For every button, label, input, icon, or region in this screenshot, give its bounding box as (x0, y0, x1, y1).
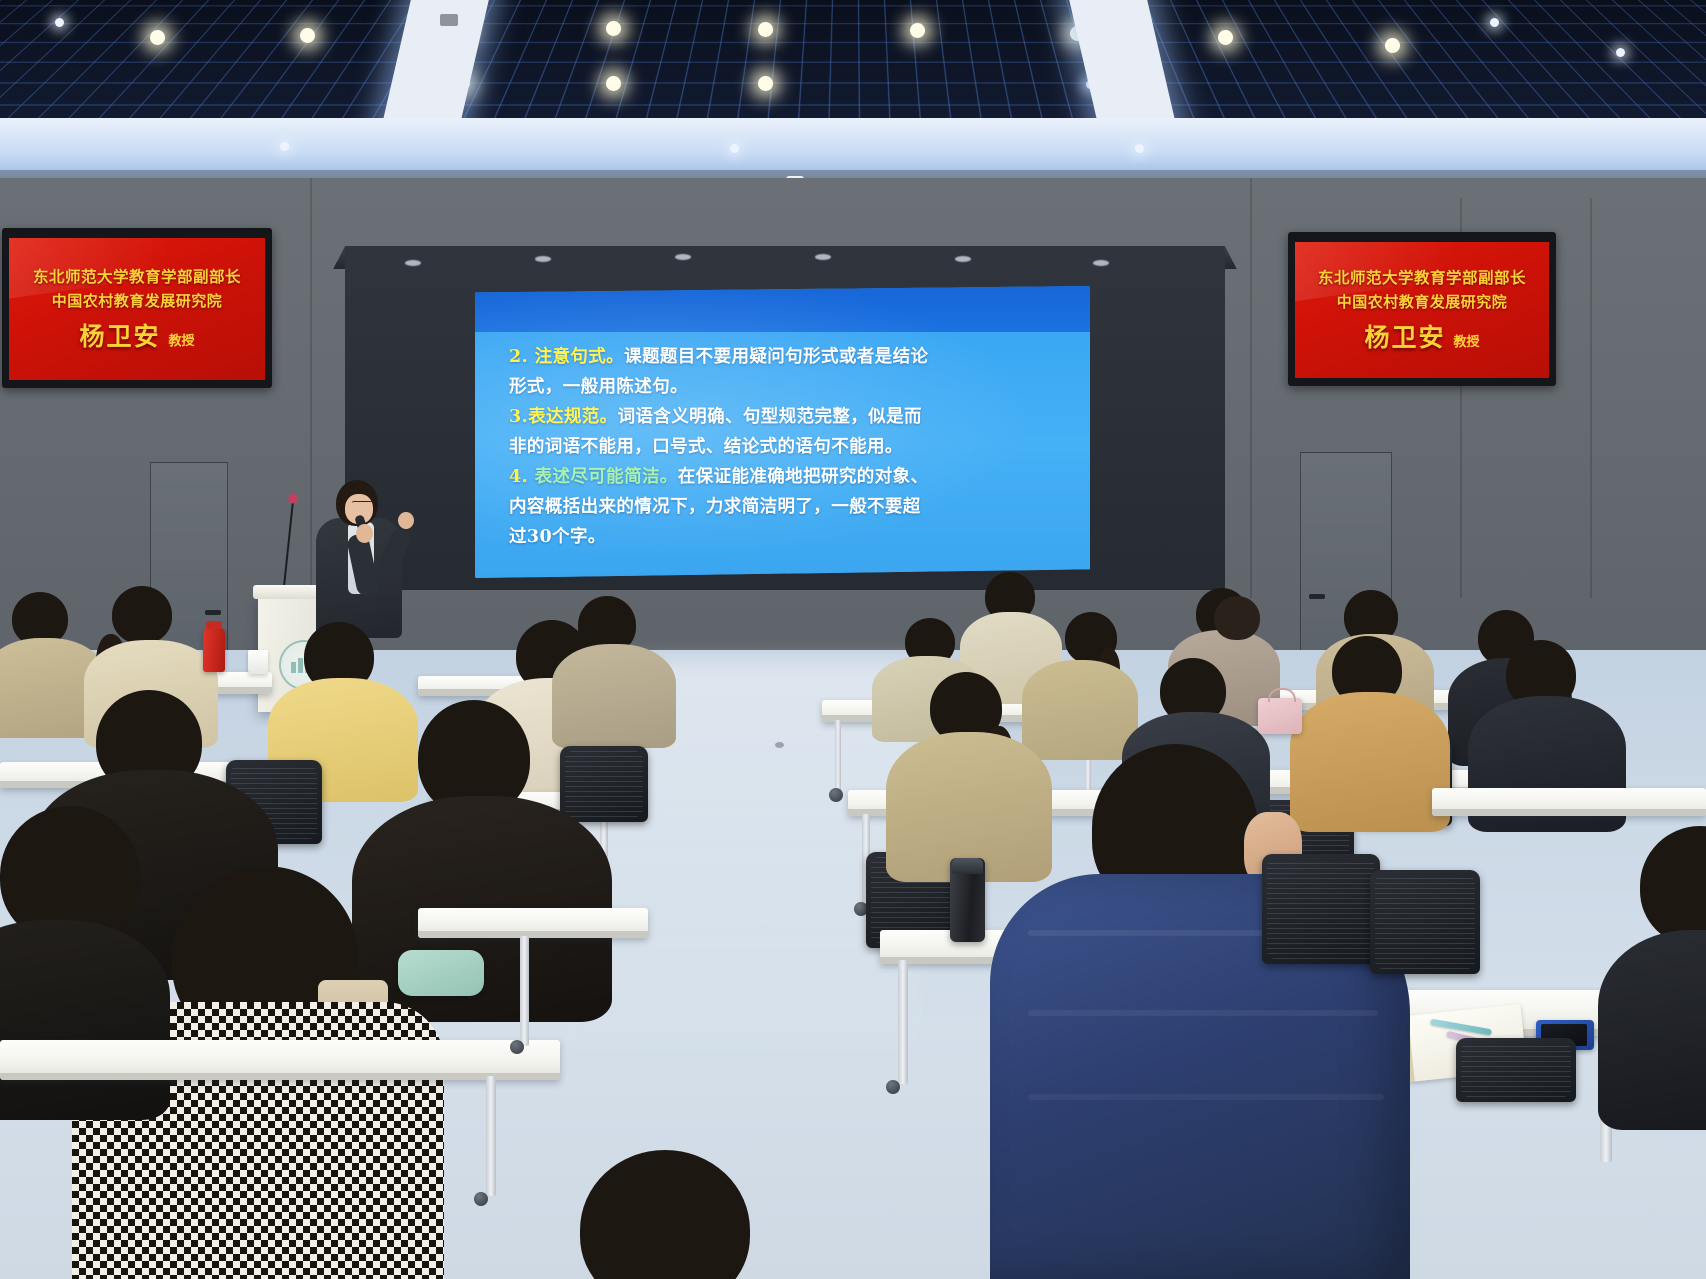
jacket-seam (1028, 1094, 1384, 1100)
desk-edge (0, 1073, 560, 1080)
chair[interactable] (1456, 1038, 1576, 1102)
banner-speaker-row: 杨卫安 教授 (79, 317, 194, 353)
ceiling-vent (440, 14, 458, 26)
thermos-cap (952, 858, 983, 874)
slide-line-rest: 在保证能准确地把研究的对象、 (678, 467, 929, 487)
chair[interactable] (1262, 854, 1380, 964)
attendee-head (112, 586, 172, 644)
desk-edge (418, 931, 648, 938)
slide-line: 非的词语不能用，口号式、结论式的语句不能用。 (509, 432, 1069, 462)
desk-leg (835, 720, 841, 792)
pink-handbag (1258, 698, 1302, 734)
banner-speaker-title: 教授 (169, 330, 195, 349)
desk-leg (486, 1076, 496, 1196)
attendee-head (1214, 596, 1260, 640)
niche-downlight (535, 256, 551, 262)
desk-leg (898, 960, 908, 1084)
desk-front-left (0, 1040, 560, 1080)
ceiling-spotlight (606, 76, 621, 91)
jacket-seam (1028, 1010, 1378, 1016)
glasses-icon (352, 501, 374, 507)
black-thermos-flask (950, 858, 985, 942)
presentation-screen[interactable]: 2. 注意句式。课题题目不要用疑问句形式或者是结论 形式，一般用陈述句。 3.表… (475, 286, 1090, 578)
desk-caster (886, 1080, 900, 1094)
desk-leg (520, 936, 529, 1046)
desk-caster (474, 1192, 488, 1206)
slide-top-band (475, 286, 1090, 332)
paper-cup (248, 650, 268, 674)
slide-line-heading: 表达规范。 (528, 407, 618, 427)
slide-line-rest: 形式，一般用陈述句。 (509, 377, 688, 397)
led-banner-left-frame: 东北师范大学教育学部副部长 中国农村教育发展研究院 杨卫安 教授 (2, 228, 272, 388)
door-handle-icon (205, 610, 221, 615)
door-handle-icon (1309, 594, 1325, 599)
chair[interactable] (560, 746, 648, 822)
slide-text-block: 2. 注意句式。课题题目不要用疑问句形式或者是结论 形式，一般用陈述句。 3.表… (509, 342, 1069, 552)
banner-speaker-row: 杨卫安 教授 (1364, 318, 1479, 354)
chair-mesh (1267, 859, 1375, 959)
slide-line: 过30个字。 (509, 522, 1069, 552)
chair[interactable] (1370, 870, 1480, 974)
wall-seam (1250, 178, 1252, 598)
slide-line-heading: 表述尽可能简洁。 (535, 467, 678, 487)
red-water-bottle (203, 628, 225, 672)
slide-line-number: 2. (509, 347, 528, 367)
speaker-hand-left (398, 512, 414, 529)
slide-line: 4. 表述尽可能简洁。在保证能准确地把研究的对象、 (509, 462, 1069, 492)
soffit-downlight (1135, 144, 1144, 153)
ceiling-spotlight (1218, 30, 1233, 45)
soffit-downlight (280, 142, 289, 151)
chair-mesh (1461, 1043, 1571, 1097)
attendee-torso (1290, 692, 1450, 832)
niche-downlight (815, 254, 831, 260)
desk-edge (1432, 809, 1706, 816)
slide-line-rest: 课题题目不要用疑问句形式或者是结论 (624, 347, 928, 367)
ceiling-spotlight (300, 28, 315, 43)
slide-line-rest: 内容概括出来的情况下，力求简洁明了，一般不要超 (509, 497, 921, 517)
floor-marker (775, 742, 784, 748)
slide-line-number: 3. (509, 407, 528, 427)
ceiling-spotlight (910, 23, 925, 38)
ceiling-spotlight (758, 22, 773, 37)
niche-downlight (405, 260, 421, 266)
banner-speaker-title: 教授 (1454, 331, 1480, 350)
banner-line-1: 东北师范大学教育学部副部长 (1318, 266, 1526, 288)
desk-caster (510, 1040, 524, 1054)
banner-speaker-name: 杨卫安 (79, 317, 160, 353)
slide-line: 2. 注意句式。课题题目不要用疑问句形式或者是结论 (509, 342, 1069, 372)
wall-seam (1590, 198, 1592, 598)
slide-line-rest: 词语含义明确、句型规范完整，似是而 (618, 407, 922, 427)
led-banner-right: 东北师范大学教育学部副部长 中国农村教育发展研究院 杨卫安 教授 (1295, 242, 1549, 378)
ceiling-spotlight (758, 76, 773, 91)
ceiling-spotlight (1616, 48, 1625, 57)
ceiling-spotlight (1490, 18, 1499, 27)
chair-mesh (1375, 875, 1475, 969)
ceiling-spotlight (55, 18, 64, 27)
desk-caster (829, 788, 843, 802)
chair-mesh (565, 751, 643, 817)
banner-line-2: 中国农村教育发展研究院 (52, 290, 223, 311)
niche-downlight (675, 254, 691, 260)
attendee-torso (1022, 660, 1138, 760)
ceiling-spotlight (1385, 38, 1400, 53)
speaker-hand-right (356, 524, 373, 543)
led-banner-right-frame: 东北师范大学教育学部副部长 中国农村教育发展研究院 杨卫安 教授 (1288, 232, 1556, 386)
slide-line-number: 4. (509, 467, 528, 487)
lecture-hall-photo: 2. 注意句式。课题题目不要用疑问句形式或者是结论 形式，一般用陈述句。 3.表… (0, 0, 1706, 1279)
wall-seam (310, 178, 312, 598)
banner-line-1: 东北师范大学教育学部副部长 (33, 265, 241, 287)
niche-downlight (1093, 260, 1109, 266)
ceiling-spotlight (150, 30, 165, 45)
banner-line-2: 中国农村教育发展研究院 (1337, 291, 1508, 312)
slide-line-rest: 过30个字。 (509, 527, 606, 547)
desk-front-center (418, 908, 648, 938)
niche-downlight (955, 256, 971, 262)
desk-right-upper (1432, 788, 1706, 816)
attendee-torso (0, 920, 170, 1120)
slide-line: 3.表达规范。词语含义明确、句型规范完整，似是而 (509, 402, 1069, 432)
green-pouch (398, 950, 484, 996)
slide-line: 形式，一般用陈述句。 (509, 372, 1069, 402)
slide-line-heading: 注意句式。 (535, 347, 625, 367)
banner-speaker-name: 杨卫安 (1364, 318, 1445, 354)
slide-line-rest: 非的词语不能用，口号式、结论式的语句不能用。 (509, 437, 903, 457)
soffit-downlight (730, 144, 739, 153)
slide-line: 内容概括出来的情况下，力求简洁明了，一般不要超 (509, 492, 1069, 522)
ceiling-spotlight (606, 21, 621, 36)
attendee-torso (552, 644, 676, 748)
led-banner-left: 东北师范大学教育学部副部长 中国农村教育发展研究院 杨卫安 教授 (9, 238, 265, 380)
